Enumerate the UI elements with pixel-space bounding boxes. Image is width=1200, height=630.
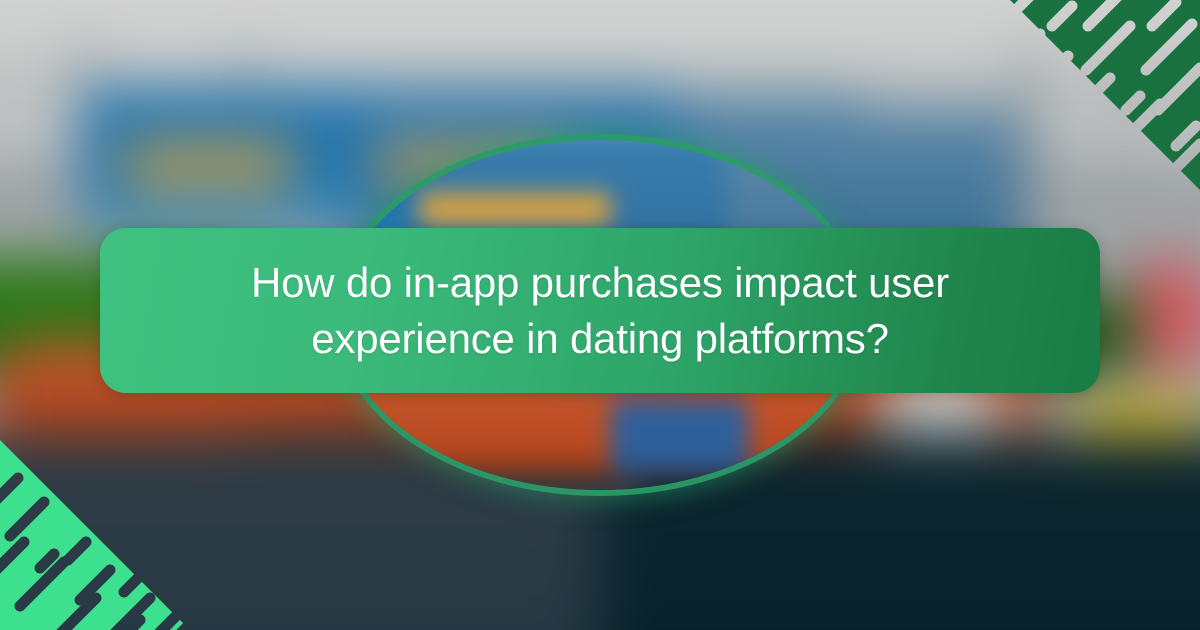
- share-card: How do in-app purchases impact user expe…: [0, 0, 1200, 630]
- page-title: How do in-app purchases impact user expe…: [100, 255, 1100, 366]
- photo-yellow-accent: [420, 193, 611, 225]
- photo-post: [1117, 49, 1128, 261]
- title-card: How do in-app purchases impact user expe…: [100, 228, 1100, 393]
- photo-yellow-accent: [123, 146, 293, 184]
- photo-vehicle-body: [340, 384, 860, 490]
- photo-vehicle-badge: [611, 400, 749, 474]
- photo-road-dark: [642, 479, 860, 490]
